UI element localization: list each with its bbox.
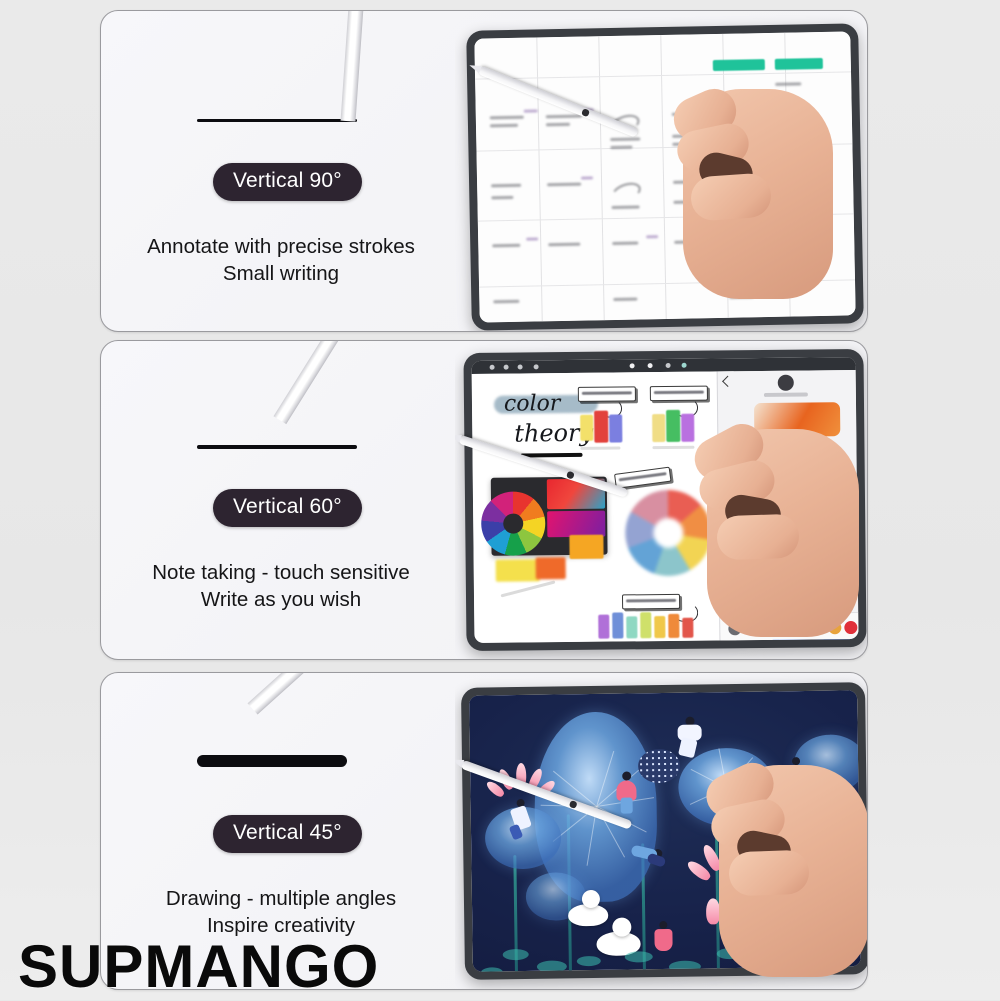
pen-tool-icon — [630, 363, 635, 368]
feature-panel-vertical-90: Vertical 90° Annotate with precise strok… — [100, 10, 868, 332]
highlight-mark — [713, 59, 765, 71]
contact-name — [764, 392, 808, 396]
color-tool-icon — [682, 363, 687, 368]
dotted-sphere — [638, 749, 680, 784]
hand-with-stylus-3 — [703, 755, 867, 989]
tool-icon — [490, 365, 495, 370]
stroke-sample-medium — [197, 445, 357, 449]
panel-1-caption: Annotate with precise strokes Small writ… — [101, 233, 461, 287]
caption-line-1: Annotate with precise strokes — [101, 233, 461, 260]
angle-badge: Vertical 60° — [213, 489, 362, 527]
angle-badge: Vertical 90° — [213, 163, 362, 201]
stroke-sample-thin — [197, 119, 357, 122]
caption-line-2: Small writing — [101, 260, 461, 287]
tool-icon — [504, 365, 509, 370]
caption-line-1: Note taking - touch sensitive — [101, 559, 461, 586]
stroke-sample-thick — [197, 755, 347, 767]
panel-3-caption: Drawing - multiple angles Inspire creati… — [101, 885, 461, 939]
feature-panel-vertical-60: Vertical 60° Note taking - touch sensiti… — [100, 340, 868, 660]
hand-with-stylus-1 — [663, 71, 867, 321]
pen-angle-demo-90 — [101, 11, 461, 161]
panel-2-left-column: Vertical 60° Note taking - touch sensiti… — [101, 341, 461, 659]
tool-icon — [534, 364, 539, 369]
eraser-tool-icon — [648, 363, 653, 368]
avatar — [778, 375, 794, 391]
angle-badge: Vertical 45° — [213, 815, 362, 853]
panel-2-caption: Note taking - touch sensitive Write as y… — [101, 559, 461, 613]
pen-angle-demo-60 — [101, 341, 461, 491]
hand-with-stylus-2 — [693, 415, 867, 655]
tag-gradient-note — [614, 467, 671, 489]
caption-line-2: Write as you wish — [101, 586, 461, 613]
pen-angle-demo-45 — [101, 673, 461, 823]
panel-2-right-column: color theory — [455, 341, 867, 659]
panel-1-right-column — [455, 11, 867, 331]
tool-icon — [666, 363, 671, 368]
tool-icon — [518, 364, 523, 369]
note-title-line-1: color — [504, 391, 561, 417]
tag-neutral-colors — [622, 594, 680, 610]
brand-logo: SUPMANGO — [18, 932, 379, 1001]
panel-1-left-column: Vertical 90° Annotate with precise strok… — [101, 11, 461, 331]
panel-3-right-column — [455, 673, 867, 989]
caption-line-1: Drawing - multiple angles — [101, 885, 461, 912]
product-infographic: Vertical 90° Annotate with precise strok… — [0, 0, 1000, 1000]
back-chevron-icon[interactable] — [722, 376, 733, 387]
highlight-mark — [775, 58, 823, 70]
